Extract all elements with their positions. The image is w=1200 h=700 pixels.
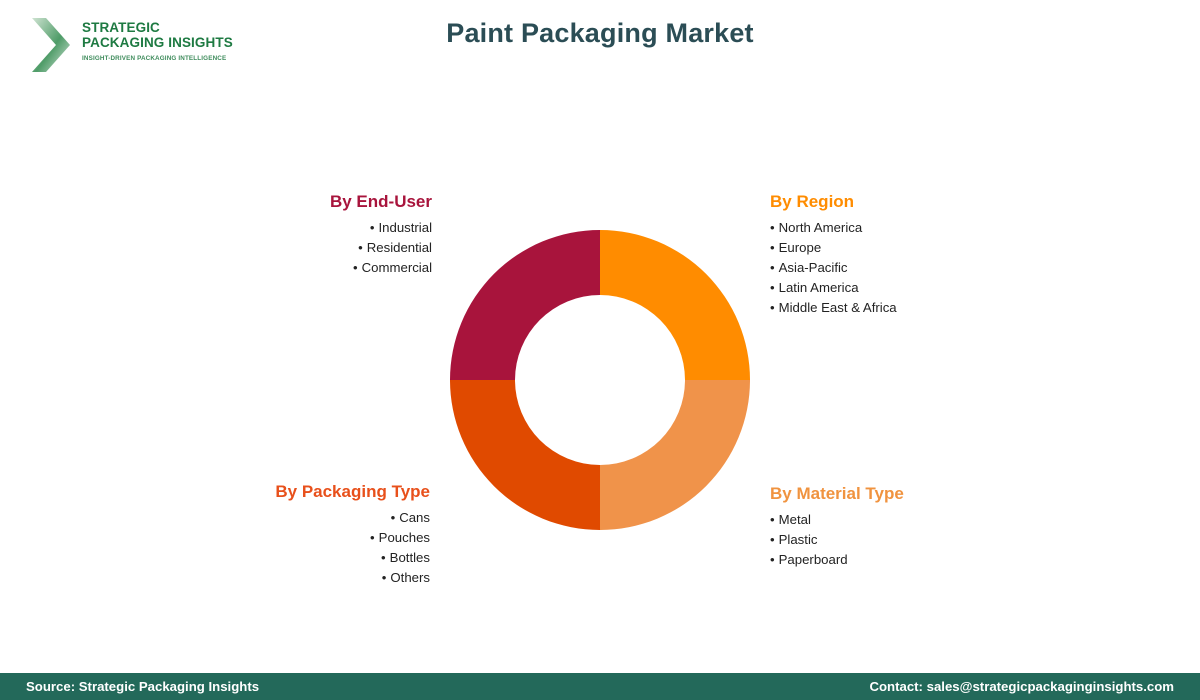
list-item-label: Bottles bbox=[390, 550, 430, 565]
segment-end-user-list: •Industrial •Residential •Commercial bbox=[190, 218, 432, 278]
bullet-icon: • bbox=[370, 220, 375, 235]
list-item: •Residential bbox=[190, 238, 432, 258]
list-item: •Middle East & Africa bbox=[770, 298, 1070, 318]
bullet-icon: • bbox=[370, 530, 375, 545]
bullet-icon: • bbox=[353, 260, 358, 275]
donut-slice-material-type[interactable] bbox=[600, 380, 750, 530]
list-item: •Cans bbox=[150, 508, 430, 528]
footer-bar: Source: Strategic Packaging Insights Con… bbox=[0, 673, 1200, 700]
bullet-icon: • bbox=[381, 550, 386, 565]
list-item: •North America bbox=[770, 218, 1070, 238]
list-item-label: Asia-Pacific bbox=[779, 260, 848, 275]
donut-slice-end-user[interactable] bbox=[450, 230, 600, 380]
list-item-label: Commercial bbox=[362, 260, 432, 275]
list-item: •Metal bbox=[770, 510, 1070, 530]
bullet-icon: • bbox=[770, 240, 775, 255]
list-item: •Pouches bbox=[150, 528, 430, 548]
list-item: •Latin America bbox=[770, 278, 1070, 298]
bullet-icon: • bbox=[382, 570, 387, 585]
list-item-label: Europe bbox=[779, 240, 822, 255]
list-item-label: Metal bbox=[779, 512, 811, 527]
segment-end-user-title: By End-User bbox=[190, 192, 432, 212]
segment-region-title: By Region bbox=[770, 192, 1070, 212]
page-title: Paint Packaging Market bbox=[0, 18, 1200, 49]
list-item-label: Middle East & Africa bbox=[779, 300, 897, 315]
list-item-label: Industrial bbox=[378, 220, 432, 235]
bullet-icon: • bbox=[770, 512, 775, 527]
list-item-label: Paperboard bbox=[779, 552, 848, 567]
bullet-icon: • bbox=[770, 260, 775, 275]
bullet-icon: • bbox=[770, 552, 775, 567]
donut-chart bbox=[450, 230, 750, 530]
list-item-label: Others bbox=[390, 570, 430, 585]
bullet-icon: • bbox=[770, 220, 775, 235]
segment-material-type: By Material Type •Metal •Plastic •Paperb… bbox=[770, 484, 1070, 570]
list-item-label: Residential bbox=[367, 240, 432, 255]
list-item: •Europe bbox=[770, 238, 1070, 258]
segment-material-type-list: •Metal •Plastic •Paperboard bbox=[770, 510, 1070, 570]
logo-tagline: INSIGHT-DRIVEN PACKAGING INTELLIGENCE bbox=[82, 55, 233, 62]
segment-region: By Region •North America •Europe •Asia-P… bbox=[770, 192, 1070, 318]
bullet-icon: • bbox=[770, 280, 775, 295]
donut-slice-region[interactable] bbox=[600, 230, 750, 380]
footer-source: Source: Strategic Packaging Insights bbox=[26, 679, 259, 694]
segment-region-list: •North America •Europe •Asia-Pacific •La… bbox=[770, 218, 1070, 318]
segment-packaging-type-list: •Cans •Pouches •Bottles •Others bbox=[150, 508, 430, 588]
list-item-label: North America bbox=[779, 220, 863, 235]
footer-contact: Contact: sales@strategicpackaginginsight… bbox=[869, 679, 1174, 694]
list-item: •Paperboard bbox=[770, 550, 1070, 570]
bullet-icon: • bbox=[770, 300, 775, 315]
segment-packaging-type: By Packaging Type •Cans •Pouches •Bottle… bbox=[150, 482, 430, 588]
bullet-icon: • bbox=[770, 532, 775, 547]
segment-packaging-type-title: By Packaging Type bbox=[150, 482, 430, 502]
list-item-label: Cans bbox=[399, 510, 430, 525]
segment-material-type-title: By Material Type bbox=[770, 484, 1070, 504]
list-item: •Asia-Pacific bbox=[770, 258, 1070, 278]
list-item: •Others bbox=[150, 568, 430, 588]
list-item-label: Plastic bbox=[779, 532, 818, 547]
list-item-label: Pouches bbox=[379, 530, 430, 545]
segment-end-user: By End-User •Industrial •Residential •Co… bbox=[190, 192, 432, 278]
bullet-icon: • bbox=[391, 510, 396, 525]
list-item-label: Latin America bbox=[779, 280, 859, 295]
list-item: •Commercial bbox=[190, 258, 432, 278]
list-item: •Industrial bbox=[190, 218, 432, 238]
list-item: •Plastic bbox=[770, 530, 1070, 550]
list-item: •Bottles bbox=[150, 548, 430, 568]
bullet-icon: • bbox=[358, 240, 363, 255]
donut-slice-packaging-type[interactable] bbox=[450, 380, 600, 530]
